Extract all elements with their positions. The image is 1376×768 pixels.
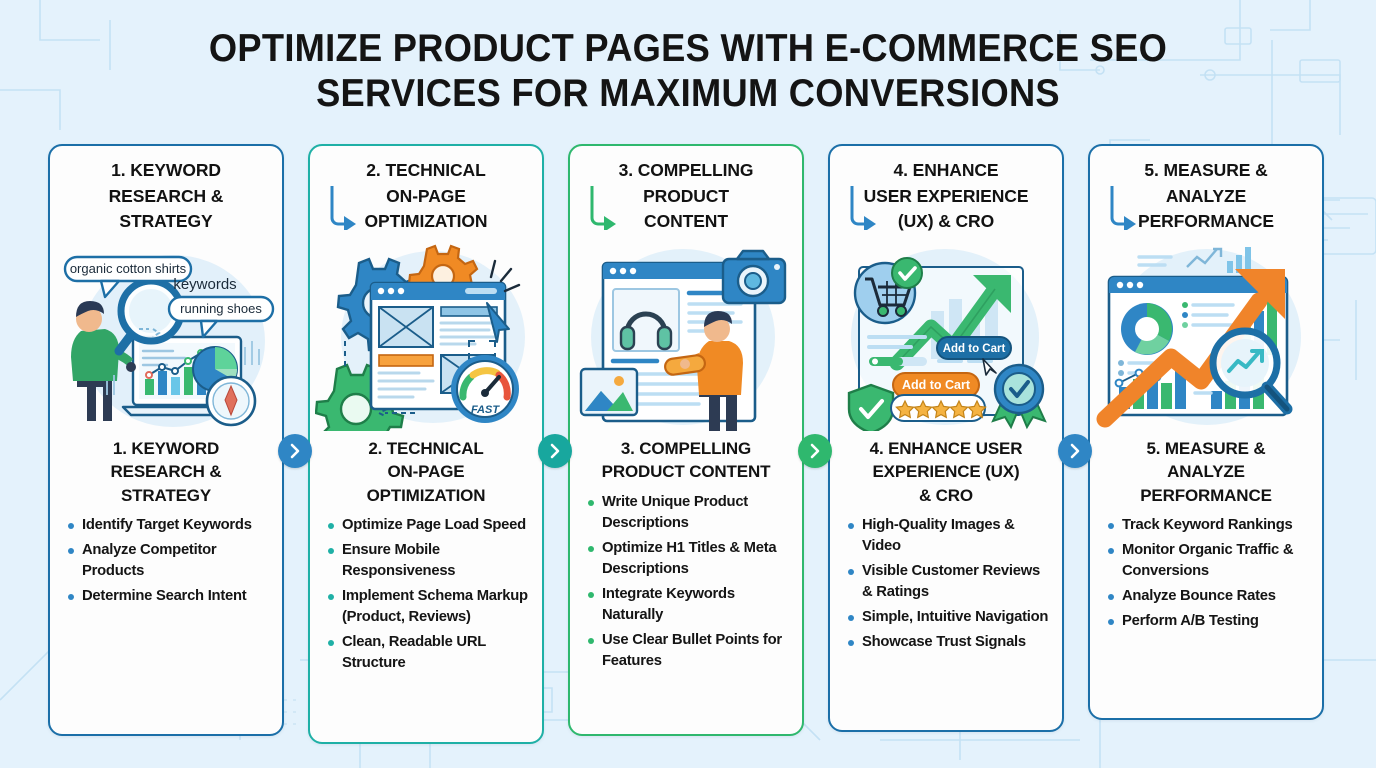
list-item: Clean, Readable URL Structure [326,632,534,674]
step-2-subtitle: 2. TECHNICAL ON-PAGE OPTIMIZATION [367,437,486,508]
list-item: Integrate Keywords Naturally [586,584,794,626]
list-item: Identify Target Keywords [66,515,274,536]
step-1-bullets: Identify Target Keywords Analyze Competi… [58,515,274,611]
list-item: Analyze Competitor Products [66,540,274,582]
steps-container: 1. KEYWORD RESEARCH & STRATEGY [48,144,1336,744]
connector-2-to-3[interactable] [538,434,572,468]
step-5-subtitle: 5. MEASURE & ANALYZE PERFORMANCE [1140,437,1272,508]
user-experience-cro-illustration: Add to Cart Add to Cart [835,241,1057,431]
step-card-1[interactable]: 1. KEYWORD RESEARCH & STRATEGY [48,144,284,736]
step-5-bullets: Track Keyword Rankings Monitor Organic T… [1098,515,1314,636]
step-card-2[interactable]: 2. TECHNICAL ON-PAGE OPTIMIZATION [308,144,544,744]
list-item: Optimize Page Load Speed [326,515,534,536]
step-3-header: 3. COMPELLING PRODUCT CONTENT [619,158,754,235]
chevron-right-icon [1067,443,1083,459]
technical-optimization-illustration: FAST [315,241,537,431]
title-line-2: SERVICES FOR MAXIMUM CONVERSIONS [48,71,1328,116]
step-1-subtitle: 1. KEYWORD RESEARCH & STRATEGY [111,437,222,508]
step-2-bullets: Optimize Page Load Speed Ensure Mobile R… [318,515,534,678]
list-item: Perform A/B Testing [1106,611,1314,632]
step-card-4[interactable]: 4. ENHANCE USER EXPERIENCE (UX) & CRO [828,144,1064,732]
keyword-research-illustration: organic cotton shirts running shoes keyw… [55,241,277,431]
step-1-header: 1. KEYWORD RESEARCH & STRATEGY [109,158,224,235]
feed-arrow-into-card-2 [326,184,356,230]
list-item: Optimize H1 Titles & Meta Descriptions [586,538,794,580]
infographic-page: OPTIMIZE PRODUCT PAGES WITH E-COMMERCE S… [0,0,1376,768]
page-title: OPTIMIZE PRODUCT PAGES WITH E-COMMERCE S… [0,26,1376,116]
step-card-5[interactable]: 5. MEASURE & ANALYZE PERFORMANCE [1088,144,1324,720]
svg-text:organic cotton shirts: organic cotton shirts [70,261,187,276]
feed-arrow-into-card-4 [846,184,876,230]
connector-3-to-4[interactable] [798,434,832,468]
svg-text:running shoes: running shoes [180,301,262,316]
list-item: Use Clear Bullet Points for Features [586,630,794,672]
list-item: Track Keyword Rankings [1106,515,1314,536]
svg-text:Add to Cart: Add to Cart [902,378,971,392]
chevron-right-icon [547,443,563,459]
chevron-right-icon [287,443,303,459]
list-item: Implement Schema Markup (Product, Review… [326,586,534,628]
feed-arrow-into-card-3 [586,184,616,230]
list-item: Determine Search Intent [66,586,274,607]
chevron-right-icon [807,443,823,459]
list-item: Visible Customer Reviews & Ratings [846,561,1054,603]
list-item: Showcase Trust Signals [846,632,1054,653]
feed-arrow-into-card-5 [1106,184,1136,230]
connector-1-to-2[interactable] [278,434,312,468]
connector-4-to-5[interactable] [1058,434,1092,468]
title-line-1: OPTIMIZE PRODUCT PAGES WITH E-COMMERCE S… [48,26,1328,71]
step-3-subtitle: 3. COMPELLING PRODUCT CONTENT [602,437,771,484]
list-item: Write Unique Product Descriptions [586,492,794,534]
step-4-header: 4. ENHANCE USER EXPERIENCE (UX) & CRO [864,158,1029,235]
analytics-performance-illustration [1095,241,1317,431]
step-4-subtitle: 4. ENHANCE USER EXPERIENCE (UX) & CRO [870,437,1023,508]
list-item: Analyze Bounce Rates [1106,586,1314,607]
svg-text:FAST: FAST [471,404,500,416]
svg-text:Add to Cart: Add to Cart [943,343,1006,355]
step-4-bullets: High-Quality Images & Video Visible Cust… [838,515,1054,657]
list-item: Ensure Mobile Responsiveness [326,540,534,582]
list-item: Monitor Organic Traffic & Conversions [1106,540,1314,582]
list-item: High-Quality Images & Video [846,515,1054,557]
list-item: Simple, Intuitive Navigation [846,607,1054,628]
svg-text:keywords: keywords [173,276,236,293]
step-3-bullets: Write Unique Product Descriptions Optimi… [578,492,794,676]
step-2-header: 2. TECHNICAL ON-PAGE OPTIMIZATION [365,158,488,235]
product-content-illustration [575,241,797,431]
step-5-header: 5. MEASURE & ANALYZE PERFORMANCE [1138,158,1274,235]
step-card-3[interactable]: 3. COMPELLING PRODUCT CONTENT [568,144,804,736]
